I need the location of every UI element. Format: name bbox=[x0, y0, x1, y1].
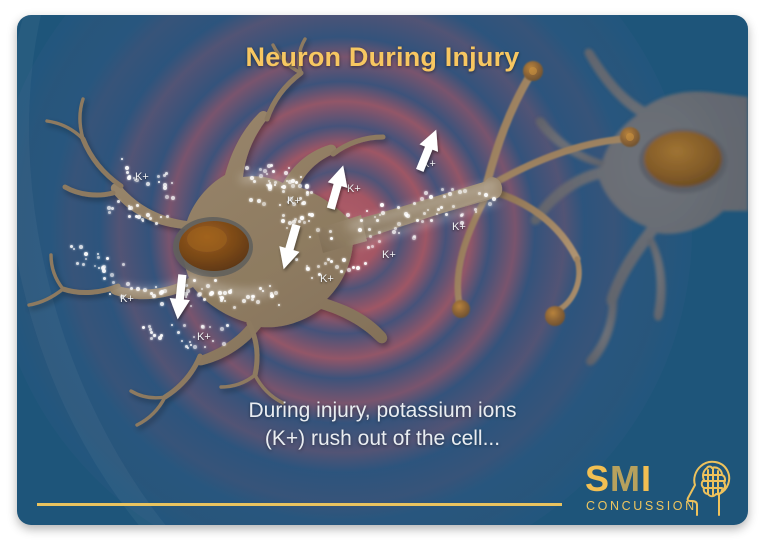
smi-concussion-logo[interactable]: SMI CONCUSSION bbox=[577, 459, 732, 525]
screenshot-root: K+K+K+K+K+K+K+K+K+ bbox=[0, 0, 768, 549]
caption-line-1: During injury, potassium ions bbox=[17, 397, 748, 425]
logo-letter-m: M bbox=[610, 458, 641, 499]
logo-letter-i: I bbox=[641, 458, 652, 499]
logo-wordmark-smi: SMI bbox=[585, 461, 652, 497]
caption-line-2: (K+) rush out of the cell... bbox=[17, 425, 748, 453]
page-title: Neuron During Injury bbox=[17, 42, 748, 73]
accent-divider bbox=[37, 503, 562, 506]
caption-text: During injury, potassium ions (K+) rush … bbox=[17, 397, 748, 453]
logo-letter-s: S bbox=[585, 458, 610, 499]
head-brain-icon bbox=[677, 457, 731, 519]
infographic-card: K+K+K+K+K+K+K+K+K+ bbox=[17, 15, 748, 525]
